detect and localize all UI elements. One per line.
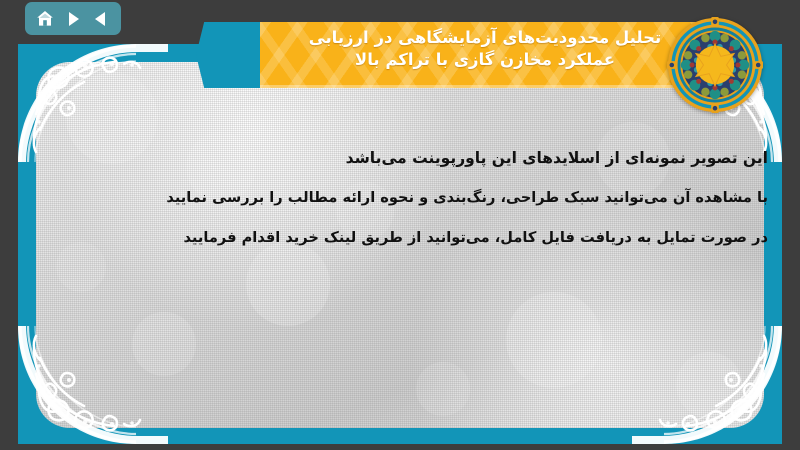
previous-slide-button[interactable] (89, 7, 113, 31)
slide-viewer: تحلیل محدودیت‌های آزمایشگاهی در ارزیابی … (0, 0, 800, 450)
title-line-1: تحلیل محدودیت‌های آزمایشگاهی در ارزیابی (270, 27, 700, 49)
triangle-right-icon (64, 10, 82, 28)
banner-arrow-tail (196, 22, 264, 88)
slide-body-text: این تصویر نمونه‌ای از اسلایدهای این پاور… (40, 138, 768, 258)
body-line-1: این تصویر نمونه‌ای از اسلایدهای این پاور… (40, 138, 768, 178)
home-icon (35, 9, 55, 29)
bokeh-circle (132, 312, 196, 376)
bokeh-circle (676, 352, 742, 418)
banner-body: تحلیل محدودیت‌های آزمایشگاهی در ارزیابی … (260, 22, 716, 88)
title-line-2: عملکرد مخازن گازی با تراکم بالا (270, 49, 700, 71)
home-button[interactable] (33, 7, 57, 31)
body-line-3: در صورت تمایل به دریافت فایل کامل، می‌تو… (40, 218, 768, 258)
body-line-2: با مشاهده آن می‌توانید سبک طراحی، رنگ‌بن… (40, 178, 768, 218)
next-slide-button[interactable] (61, 7, 85, 31)
title-banner: تحلیل محدودیت‌های آزمایشگاهی در ارزیابی … (196, 22, 716, 88)
bokeh-circle (506, 292, 602, 388)
persian-medallion-icon (667, 17, 763, 113)
bokeh-circle (416, 362, 470, 416)
triangle-left-icon (92, 10, 110, 28)
page-title: تحلیل محدودیت‌های آزمایشگاهی در ارزیابی … (260, 22, 716, 71)
navigation-bar (25, 2, 121, 35)
